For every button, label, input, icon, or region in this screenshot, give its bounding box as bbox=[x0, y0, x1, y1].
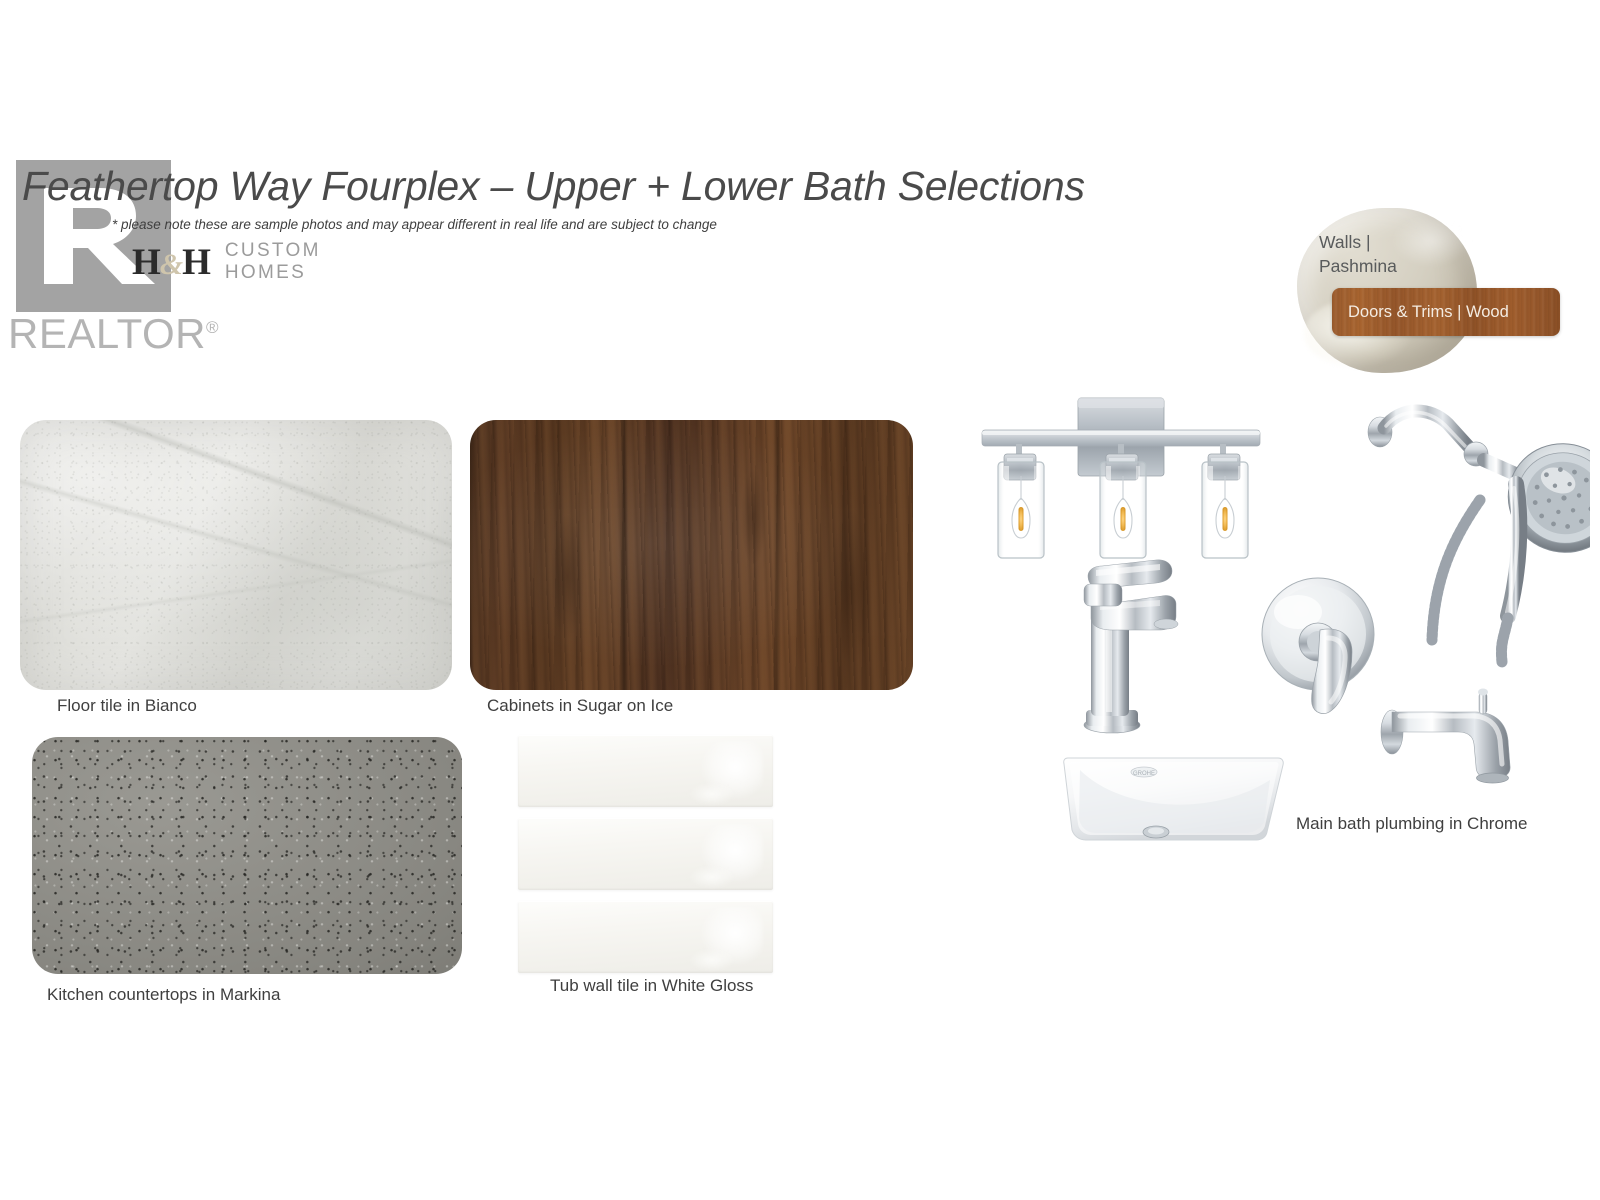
tub-spout bbox=[1381, 689, 1510, 784]
doors-trims-label: Doors & Trims | Wood bbox=[1332, 303, 1509, 322]
countertop-speckle bbox=[32, 737, 462, 974]
gloss-tile bbox=[518, 735, 773, 807]
tub-wall-tile-swatch bbox=[518, 735, 773, 975]
gloss-tile bbox=[518, 901, 773, 973]
vanity-light-shade-1 bbox=[998, 444, 1044, 558]
plumbing-products-illustration: GROHE bbox=[960, 380, 1590, 850]
page-title: Feathertop Way Fourplex – Upper + Lower … bbox=[22, 163, 1085, 210]
shower-valve-trim bbox=[1262, 578, 1374, 714]
undermount-sink: GROHE bbox=[1064, 758, 1284, 840]
realtor-wordmark: REALTOR® bbox=[8, 310, 219, 358]
bathroom-faucet bbox=[1084, 560, 1178, 733]
hh-ampersand: & bbox=[160, 248, 182, 281]
floor-tile-swatch bbox=[20, 420, 452, 690]
gloss-tile-highlight-lower bbox=[689, 783, 735, 805]
countertop-swatch bbox=[32, 737, 462, 974]
floor-tile-grain bbox=[20, 420, 452, 690]
gloss-tile-highlight-lower bbox=[689, 866, 735, 888]
doors-trims-swatch: Doors & Trims | Wood bbox=[1332, 288, 1560, 336]
cabinets-caption: Cabinets in Sugar on Ice bbox=[487, 696, 673, 716]
cabinets-grain-figure bbox=[470, 420, 913, 690]
builder-logo: H&H CUSTOM HOMES bbox=[132, 240, 321, 285]
page-disclaimer: * please note these are sample photos an… bbox=[112, 217, 717, 232]
svg-text:GROHE: GROHE bbox=[1133, 771, 1155, 777]
vanity-light-fixture bbox=[982, 398, 1260, 558]
plumbing-products-group: GROHE bbox=[960, 380, 1590, 850]
wall-paint-label-line2: Pashmina bbox=[1319, 254, 1429, 278]
plumbing-caption: Main bath plumbing in Chrome bbox=[1296, 814, 1528, 834]
tub-wall-tile-caption: Tub wall tile in White Gloss bbox=[550, 976, 753, 996]
shower-head-handheld bbox=[1368, 411, 1590, 662]
vanity-light-shade-3 bbox=[1202, 444, 1248, 558]
gloss-tile-highlight-lower bbox=[689, 949, 735, 971]
hh-monogram: H&H bbox=[132, 244, 210, 281]
countertop-caption: Kitchen countertops in Markina bbox=[47, 985, 280, 1005]
builder-logo-words: CUSTOM HOMES bbox=[225, 240, 321, 285]
cabinets-swatch bbox=[470, 420, 913, 690]
floor-tile-caption: Floor tile in Bianco bbox=[57, 696, 197, 716]
builder-logo-line2: HOMES bbox=[225, 262, 321, 284]
selection-board: REALTOR® Feathertop Way Fourplex – Upper… bbox=[0, 0, 1600, 1200]
wall-paint-label: Walls | Pashmina bbox=[1319, 230, 1429, 278]
builder-logo-line1: CUSTOM bbox=[225, 240, 321, 262]
gloss-tile bbox=[518, 818, 773, 890]
wall-paint-label-line1: Walls | bbox=[1319, 230, 1429, 254]
